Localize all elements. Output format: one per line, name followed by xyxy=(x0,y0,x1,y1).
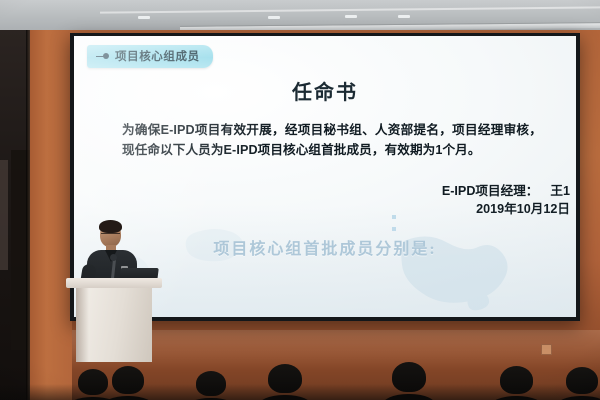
slide-badge: 项目核心组成员 xyxy=(87,45,213,68)
audience-head xyxy=(78,369,108,395)
audience-head xyxy=(196,371,226,396)
audience-shoulders xyxy=(556,396,600,400)
audience-row xyxy=(0,360,600,400)
slide-body-text: 为确保E-IPD项目有效开展，经项目秘书组、人资部提名，项目经理审核，现任命以下… xyxy=(122,120,542,161)
arrow-bullet-icon xyxy=(96,52,109,61)
ceiling xyxy=(0,0,600,34)
audience-head xyxy=(500,366,533,394)
signature-line: E-IPD项目经理：王1 xyxy=(270,182,570,200)
signature-date: 2019年10月12日 xyxy=(270,200,570,218)
ceiling-light xyxy=(345,15,357,18)
ceiling-light xyxy=(138,16,150,19)
audience-shoulders xyxy=(102,396,154,400)
audience-shoulders xyxy=(258,395,312,400)
doorway-light-strip xyxy=(0,160,8,270)
audience-shoulders xyxy=(490,396,543,400)
presenter-glasses xyxy=(101,233,120,238)
ceiling-light xyxy=(398,15,410,18)
slide-badge-label: 项目核心组成员 xyxy=(115,48,200,64)
slide-signature-block: E-IPD项目经理：王1 2019年10月12日 xyxy=(270,182,570,219)
microphone-icon xyxy=(110,254,117,261)
podium xyxy=(66,278,162,362)
signature-name: 王1 xyxy=(550,184,570,198)
presenter-hair xyxy=(99,220,122,233)
podium-top xyxy=(66,278,162,288)
audience-head xyxy=(268,364,302,393)
signature-role-label: E-IPD项目经理： xyxy=(442,184,539,198)
audience-head xyxy=(112,366,144,394)
slide-subtitle: 项目核心组首批成员分别是: xyxy=(74,235,576,259)
audience-head xyxy=(392,362,426,392)
audience-head xyxy=(566,367,598,394)
light-switch-plate[interactable] xyxy=(541,344,552,355)
podium-shadow xyxy=(76,287,89,362)
ceiling-seam xyxy=(100,6,600,13)
presentation-room-photo: 项目核心组成员 任命书 为确保E-IPD项目有效开展，经项目秘书组、人资部提名，… xyxy=(0,0,600,400)
audience-shoulders xyxy=(382,394,436,400)
slide-title: 任命书 xyxy=(74,76,576,105)
ceiling-light xyxy=(268,16,280,19)
